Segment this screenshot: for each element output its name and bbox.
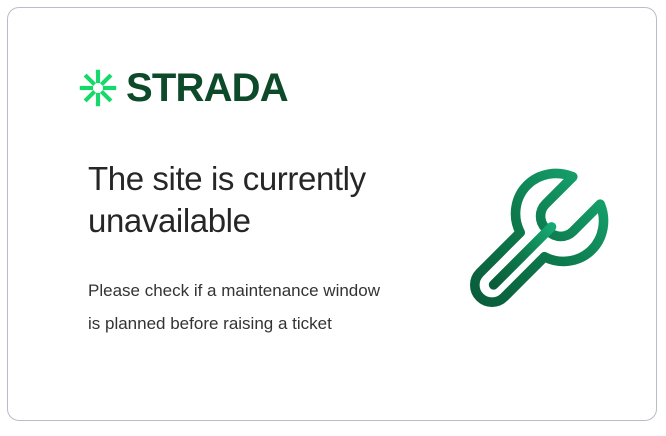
status-card: STRADA The site is currently unavailable… (7, 7, 657, 421)
wrench-icon (460, 160, 620, 320)
error-page: STRADA The site is currently unavailable… (0, 0, 666, 436)
strada-asterisk-icon (79, 69, 117, 107)
brand-wordmark: STRADA (126, 68, 288, 108)
brand-logo: STRADA (79, 68, 288, 108)
page-title: The site is currently unavailable (88, 158, 418, 241)
page-description: Please check if a maintenance window is … (88, 274, 388, 340)
